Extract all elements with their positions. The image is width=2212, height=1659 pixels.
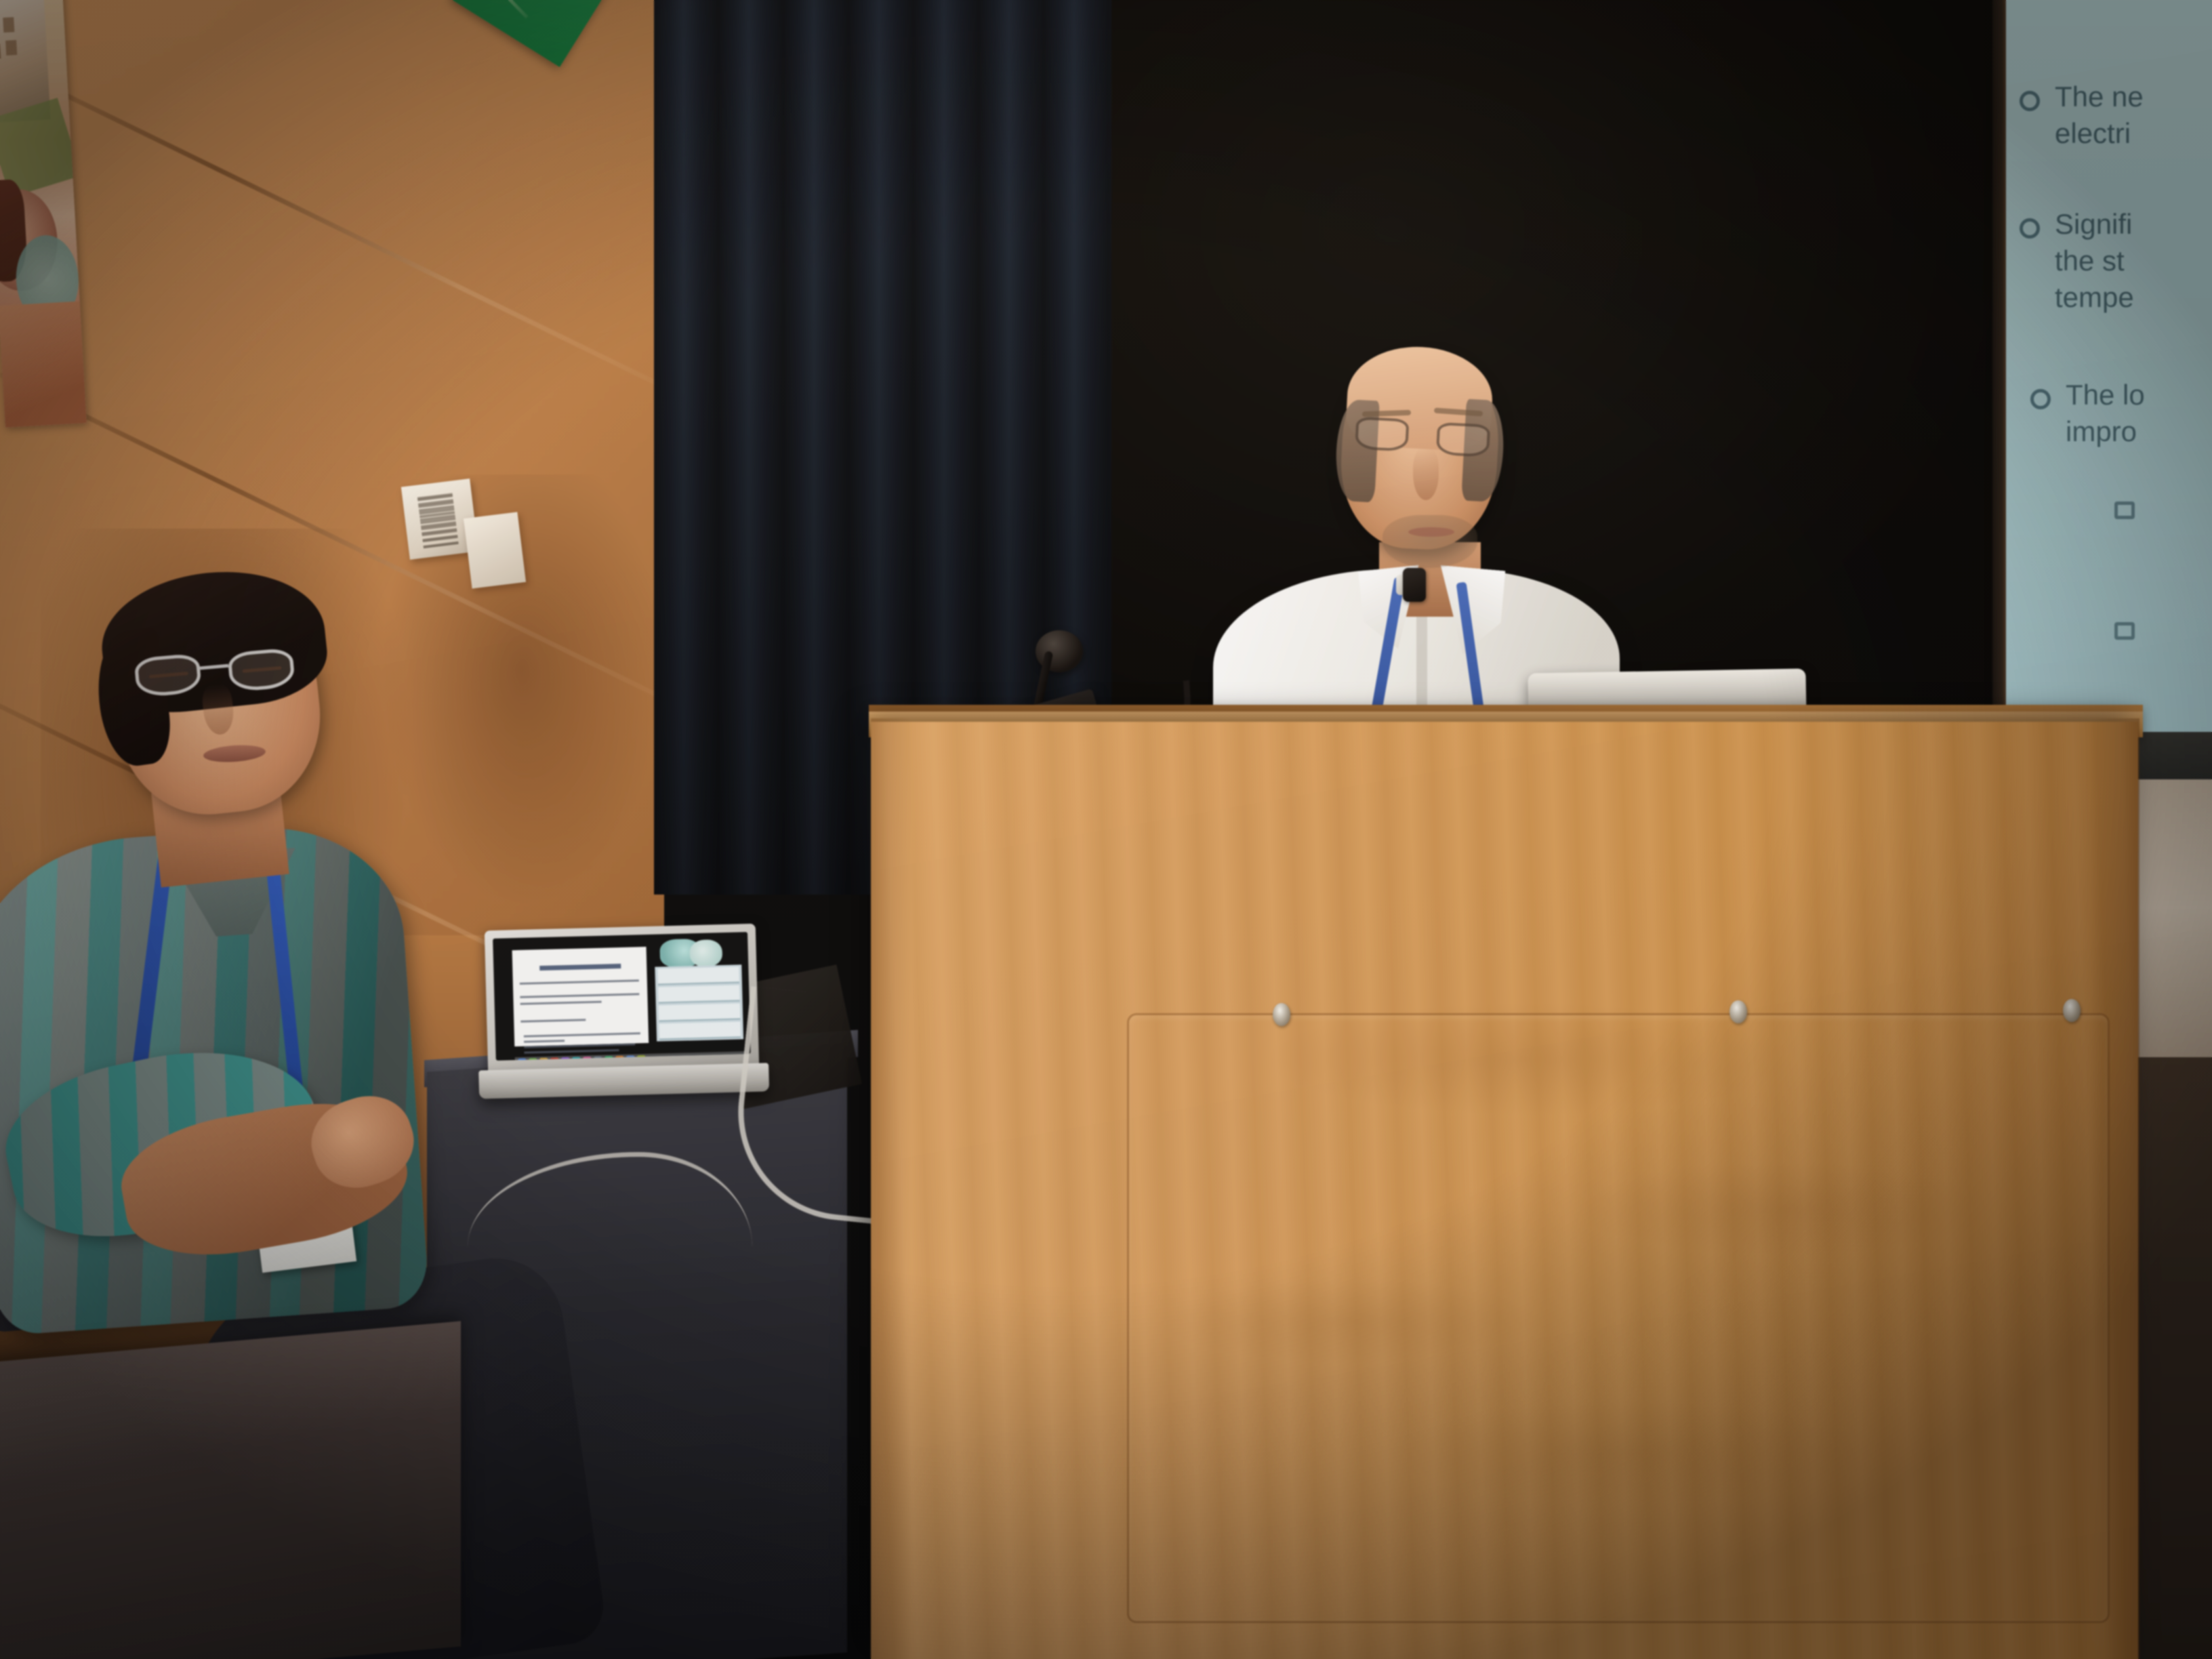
presenter-nose: [1413, 447, 1439, 500]
slide-bullet-line: tempe: [2055, 278, 2134, 317]
slide-bullet-line: The lo: [2066, 375, 2145, 415]
podium-top-lip: [869, 705, 2143, 712]
presenter-goatee: [1382, 515, 1477, 568]
wall-panel: [464, 512, 526, 589]
slide-thumbnail[interactable]: [658, 985, 740, 1003]
foreground-table-cloth: [0, 1321, 461, 1659]
slide-thumbnail[interactable]: [657, 966, 739, 985]
slide-thumbnail[interactable]: [659, 1003, 741, 1021]
slide-subbullet-square-icon: [2114, 622, 2135, 640]
slide-bullet-line: impro: [2066, 412, 2137, 451]
slide-bullet-circle-icon: [2020, 91, 2040, 111]
panel-screw: [1273, 1003, 1290, 1026]
slide-bullet-line: electri: [2055, 114, 2131, 153]
slide-bullet-line: the st: [2055, 241, 2125, 281]
slide-thumbnail-pane[interactable]: [655, 964, 743, 1041]
slide-title-text: [539, 964, 621, 970]
slide-bullet-circle-icon: [2020, 218, 2040, 239]
conference-photo: The ne electri Signifi the st tempe The …: [0, 0, 2212, 1659]
presenter-laptop[interactable]: [485, 924, 760, 1100]
slide-bullet-line: Signifi: [2055, 205, 2132, 244]
podium-edge-shadow: [871, 718, 912, 1659]
slide-canvas[interactable]: [512, 947, 649, 1046]
panel-screw: [1729, 1000, 1747, 1023]
laptop-screen[interactable]: [493, 932, 751, 1061]
slide-thumbnail[interactable]: [659, 1021, 741, 1040]
lapel-microphone-icon: [1403, 568, 1426, 602]
slide-subbullet-square-icon: [2114, 501, 2135, 519]
panel-screw: [2063, 999, 2081, 1022]
podium-front-panel: [1127, 1013, 2110, 1623]
presenter-mouth: [1408, 527, 1454, 537]
slide-bullet-line: The ne: [2055, 77, 2144, 117]
slide-bullet-circle-icon: [2030, 389, 2051, 409]
video-preview: [689, 939, 722, 967]
thermostat-vent: [424, 541, 459, 548]
